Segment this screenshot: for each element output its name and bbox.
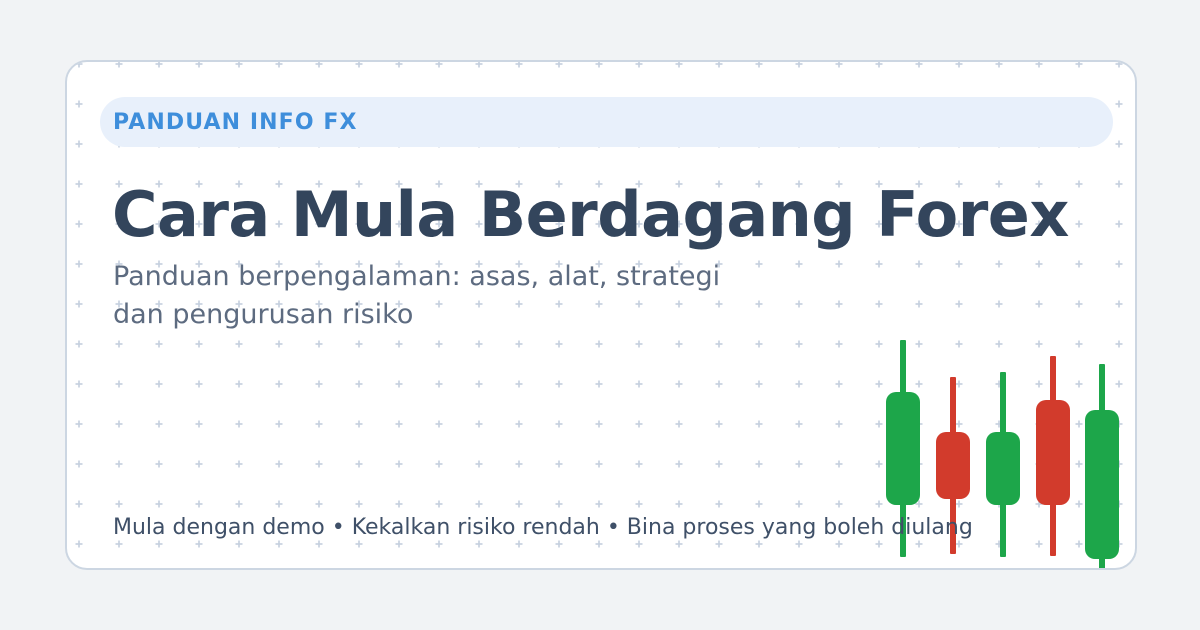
footer-tagline: Mula dengan demo • Kekalkan risiko renda… [113, 515, 973, 540]
candlestick-3-body [986, 432, 1020, 505]
subtitle-line-2: dan pengurusan risiko [113, 296, 733, 334]
category-badge-label: PANDUAN INFO FX [113, 110, 358, 135]
candlestick-4 [1036, 262, 1070, 562]
page-title: Cara Mula Berdagang Forex [112, 182, 1069, 247]
hero-card: PANDUAN INFO FX Cara Mula Berdagang Fore… [65, 60, 1137, 570]
page-subtitle: Panduan berpengalaman: asas, alat, strat… [113, 258, 733, 335]
subtitle-line-1: Panduan berpengalaman: asas, alat, strat… [113, 258, 733, 296]
category-badge: PANDUAN INFO FX [100, 97, 1113, 147]
candlestick-5-body [1085, 410, 1119, 559]
candlestick-3 [986, 262, 1020, 562]
candlestick-4-body [1036, 400, 1070, 505]
candlestick-1-body [886, 392, 920, 505]
candlestick-5 [1085, 262, 1119, 570]
candlestick-2-body [936, 432, 970, 499]
